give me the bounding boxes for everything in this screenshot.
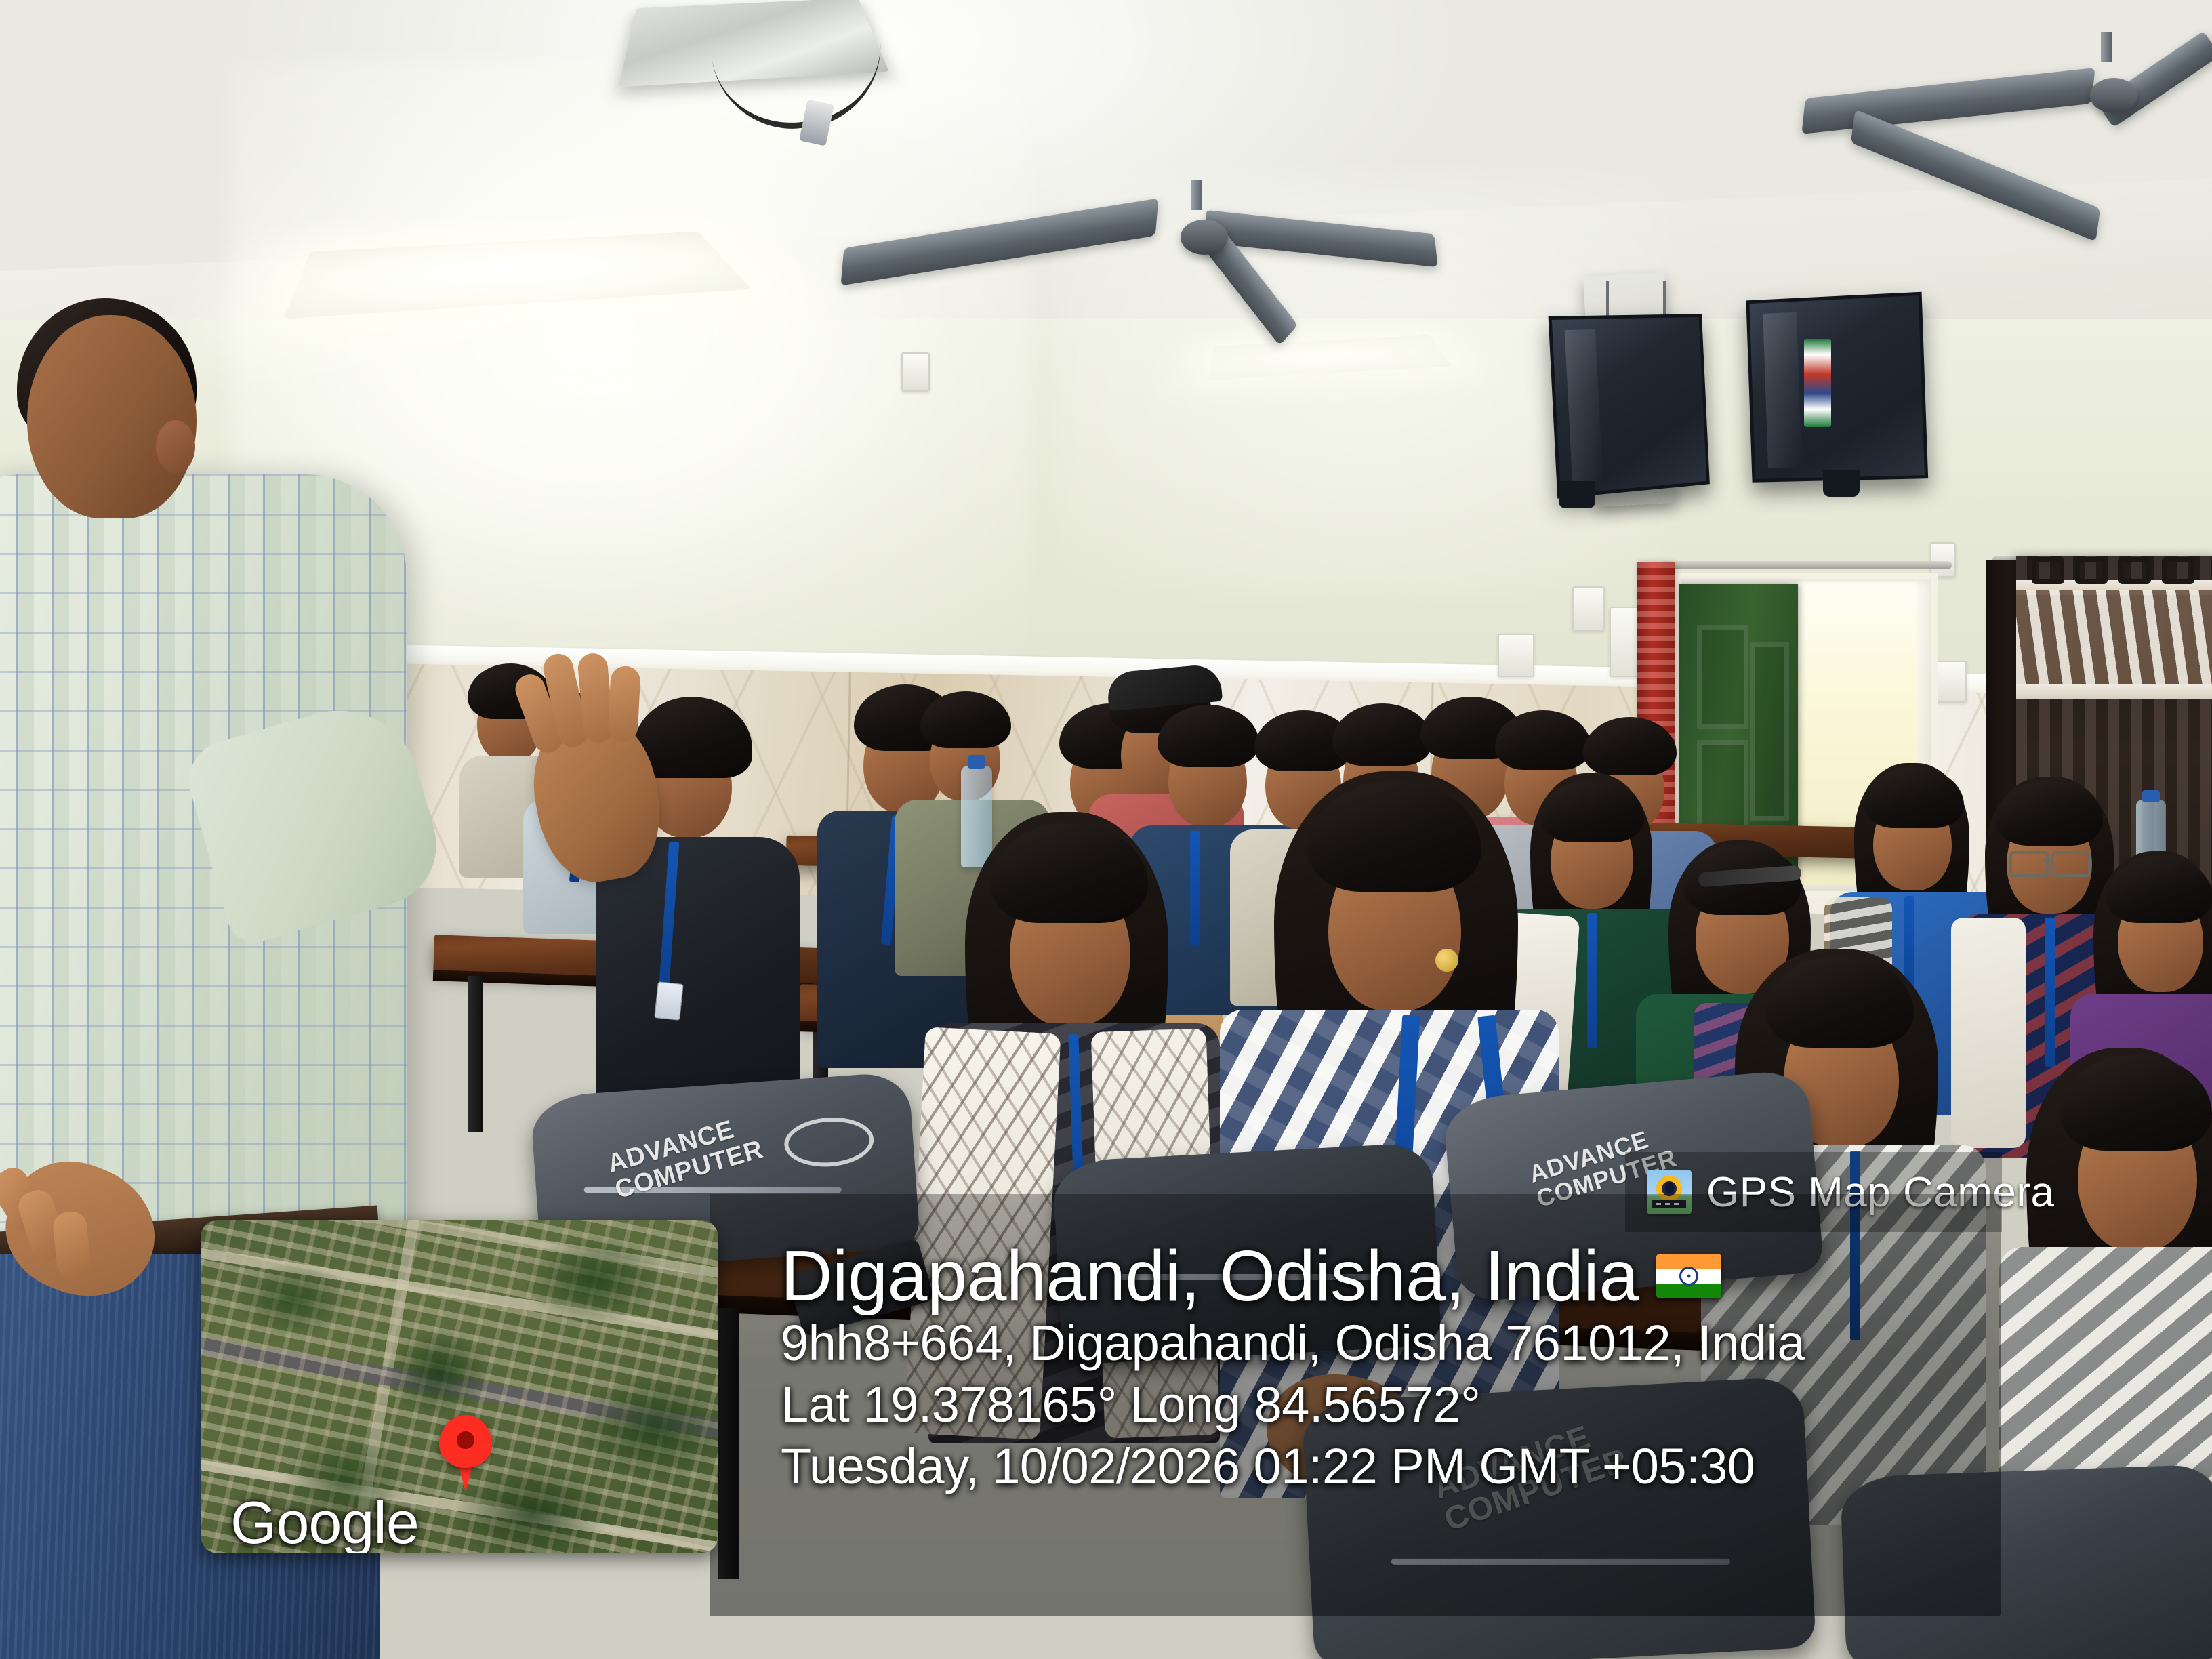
fan-hub — [2090, 78, 2137, 113]
fan-hub — [1181, 220, 1228, 255]
tv-monitor-left — [1549, 314, 1710, 498]
location-title: Digapahandi, Odisha, India — [781, 1240, 1639, 1312]
door-curtain-rail — [1660, 561, 1952, 569]
google-watermark: Google — [230, 1488, 419, 1553]
light-switch-plate[interactable] — [901, 352, 930, 392]
instructor-head — [27, 315, 197, 518]
white-dupatta — [1951, 918, 2026, 1148]
gps-overlay-text-block: Digapahandi, Odisha, India 9hh8+664, Dig… — [781, 1240, 1994, 1497]
tv-sticker — [1804, 339, 1831, 427]
fan-rod — [1191, 180, 1202, 210]
curtain-leaf-pattern-band — [2016, 590, 2212, 684]
location-coordinates: Lat 19.378165° Long 84.56572° — [781, 1374, 1994, 1435]
tv-monitor-right — [1746, 292, 1928, 483]
curtain-ring — [2118, 557, 2151, 584]
desk-leg — [468, 976, 483, 1132]
earring — [1435, 949, 1458, 972]
location-title-row: Digapahandi, Odisha, India — [781, 1240, 1994, 1312]
tv-foot — [1823, 470, 1860, 497]
location-address: 9hh8+664, Digapahandi, Odisha 761012, In… — [781, 1312, 1994, 1374]
tv-foot — [1559, 481, 1595, 508]
instructor-ear — [156, 420, 195, 473]
map-pin-icon — [1665, 1182, 1674, 1193]
curtain-ring — [2162, 557, 2194, 584]
curtain-band-bottom — [2016, 684, 2212, 699]
light-switch-plate[interactable] — [1572, 586, 1605, 631]
curtain-ring — [2032, 557, 2064, 584]
fan-rod — [2101, 32, 2112, 62]
map-pin-icon — [439, 1415, 492, 1468]
map-thumbnail[interactable]: Google — [201, 1220, 718, 1553]
india-flag-icon — [1656, 1254, 1721, 1298]
water-bottle — [961, 766, 992, 867]
electrical-box — [1498, 634, 1534, 677]
curtain-ring — [2075, 557, 2108, 584]
photo-canvas: ADVANCE COMPUTER ADVANCE COMPUTER ADVANC… — [0, 0, 2212, 1659]
capture-timestamp: Tuesday, 10/02/2026 01:22 PM GMT +05:30 — [781, 1435, 1994, 1497]
eyeglasses — [2009, 851, 2091, 872]
ashoka-chakra-icon — [1679, 1267, 1698, 1286]
